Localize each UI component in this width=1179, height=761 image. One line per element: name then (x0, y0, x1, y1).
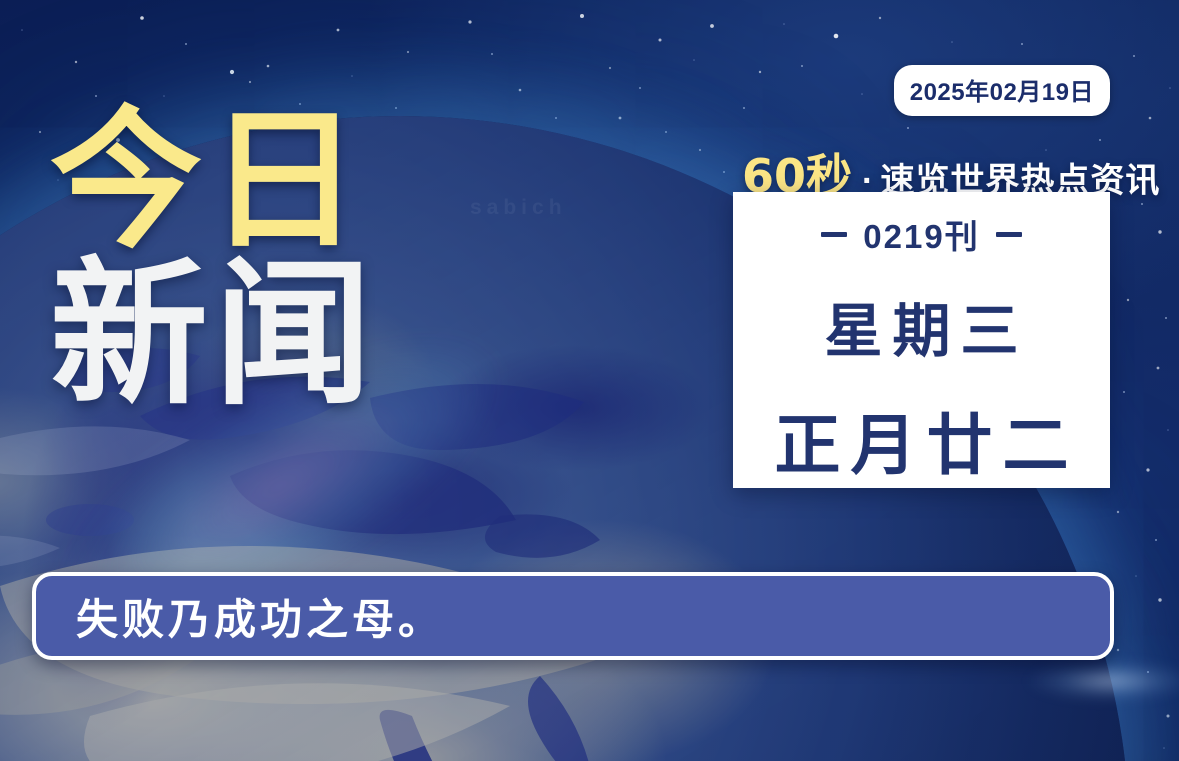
quote-bar: 失败乃成功之母。 (32, 572, 1114, 660)
issue-row: 0219刊 (821, 210, 1021, 258)
quote-text: 失败乃成功之母。 (76, 586, 444, 647)
lunar-date-label: 正月廿二 (765, 392, 1079, 488)
page-title-line-1: 今日 (50, 108, 378, 254)
weekday-label: 星期三 (814, 284, 1028, 368)
news-poster: sabich 今日 新闻 2025年02月19日 60秒 · 速览世界热点资讯 … (0, 0, 1179, 761)
issue-label: 0219刊 (863, 210, 979, 258)
issue-info-card: 0219刊 星期三 正月廿二 (733, 192, 1110, 488)
dash-right-icon (996, 232, 1022, 237)
poster-title: 今日 新闻 (50, 108, 378, 412)
dash-left-icon (821, 232, 847, 237)
page-title-line-2: 新闻 (50, 260, 378, 412)
date-badge: 2025年02月19日 (894, 65, 1110, 116)
